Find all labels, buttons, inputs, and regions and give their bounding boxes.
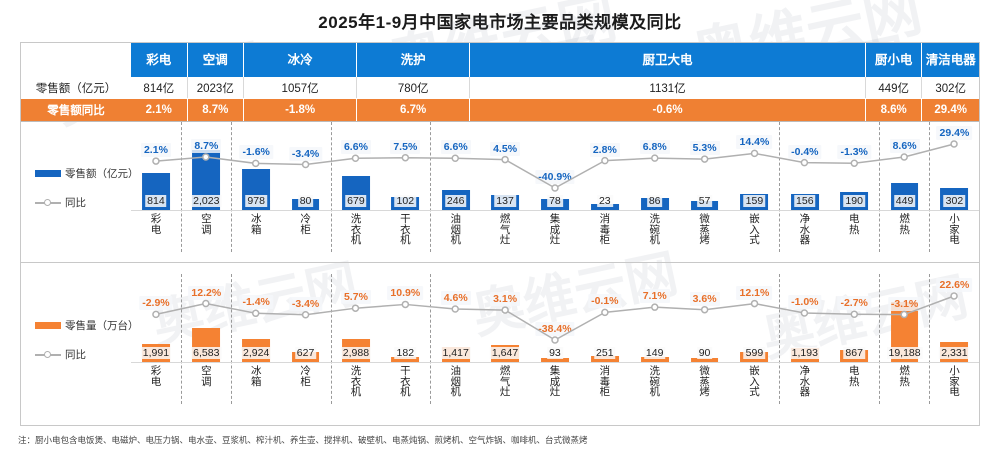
table-header-cell-2: 冰冷: [244, 43, 357, 77]
table-header-label: 厨卫大电: [643, 53, 693, 67]
table-cell: 2023亿: [188, 77, 245, 98]
table-cell: -1.8%: [244, 99, 357, 121]
legend-bar-swatch-icon: [35, 170, 61, 177]
table-cell: 1131亿: [470, 77, 866, 98]
legend-line-swatch-icon: [35, 350, 61, 359]
legend-line-swatch-icon: [35, 198, 61, 207]
table-cell: 8.6%: [866, 99, 923, 121]
legend-item-bar: 零售额（亿元）: [35, 166, 145, 181]
legend-item-bar: 零售量（万台）: [35, 318, 145, 333]
legend-line-label: 同比: [65, 195, 86, 210]
legend-lower: 零售量（万台） 同比: [35, 318, 145, 376]
page-title: 2025年1-9月中国家电市场主要品类规模及同比: [0, 8, 1000, 33]
table-cell: 2.1%: [131, 99, 188, 121]
table-header-cell-1: 空调: [188, 43, 245, 77]
baseline: [131, 210, 979, 211]
table-cell: 814亿: [131, 77, 188, 98]
table-cell: 449亿: [866, 77, 923, 98]
table-header-row: 彩电空调冰冷洗护厨卫大电厨小电清洁电器: [21, 43, 979, 77]
divider: [21, 262, 979, 263]
table-cell: 780亿: [357, 77, 470, 98]
table-header-cell-6: 清洁电器: [922, 43, 979, 77]
table-header-cell-4: 厨卫大电: [470, 43, 866, 77]
baseline: [131, 362, 979, 363]
legend-item-line: 同比: [35, 195, 145, 210]
row-label: 零售额同比: [21, 99, 131, 121]
table-header-label: 空调: [203, 53, 228, 67]
legend-upper: 零售额（亿元） 同比: [35, 166, 145, 224]
chart-retail-value: 零售额（亿元） 同比 8142.1%彩电2,0238.7%空调978-1.6%冰…: [21, 122, 979, 252]
plot-area-upper: 8142.1%彩电2,0238.7%空调978-1.6%冰箱80-3.4%冷柜6…: [131, 122, 979, 252]
table-row-retail-value: 零售额（亿元） 814亿2023亿1057亿780亿1131亿449亿302亿: [21, 77, 979, 99]
table-header-cell-3: 洗护: [357, 43, 470, 77]
yoy-line-upper: [131, 122, 979, 252]
table-cell: 8.7%: [188, 99, 245, 121]
table-cell: 1057亿: [244, 77, 357, 98]
table-header-cell-5: 厨小电: [866, 43, 923, 77]
table-header-label: 清洁电器: [926, 53, 976, 67]
legend-item-line: 同比: [35, 347, 145, 362]
table-cell: -0.6%: [470, 99, 866, 121]
table-cell: 6.7%: [357, 99, 470, 121]
legend-bar-swatch-icon: [35, 322, 61, 329]
yoy-line-lower: [131, 274, 979, 404]
table-cell: 29.4%: [922, 99, 979, 121]
table-header-label: 彩电: [146, 53, 171, 67]
table-header-label: 厨小电: [875, 53, 913, 67]
table-header-label: 冰冷: [288, 53, 313, 67]
table-header-label: 洗护: [401, 53, 426, 67]
table-row-retail-yoy: 零售额同比 2.1%8.7%-1.8%6.7%-0.6%8.6%29.4%: [21, 99, 979, 121]
legend-bar-label: 零售量（万台）: [65, 318, 139, 333]
footnote: 注：厨小电包含电饭煲、电磁炉、电压力锅、电水壶、豆浆机、榨汁机、养生壶、搅拌机、…: [18, 434, 978, 446]
plot-area-lower: 1,991-2.9%彩电6,58312.2%空调2,924-1.4%冰箱627-…: [131, 274, 979, 404]
chart-retail-volume: 零售量（万台） 同比 1,991-2.9%彩电6,58312.2%空调2,924…: [21, 274, 979, 404]
table-cell: 302亿: [922, 77, 979, 98]
row-label: 零售额（亿元）: [21, 77, 131, 98]
legend-line-label: 同比: [65, 347, 86, 362]
legend-bar-label: 零售额（亿元）: [65, 166, 139, 181]
table-header-cell-0: 彩电: [131, 43, 188, 77]
header-corner-cell: [21, 43, 131, 77]
